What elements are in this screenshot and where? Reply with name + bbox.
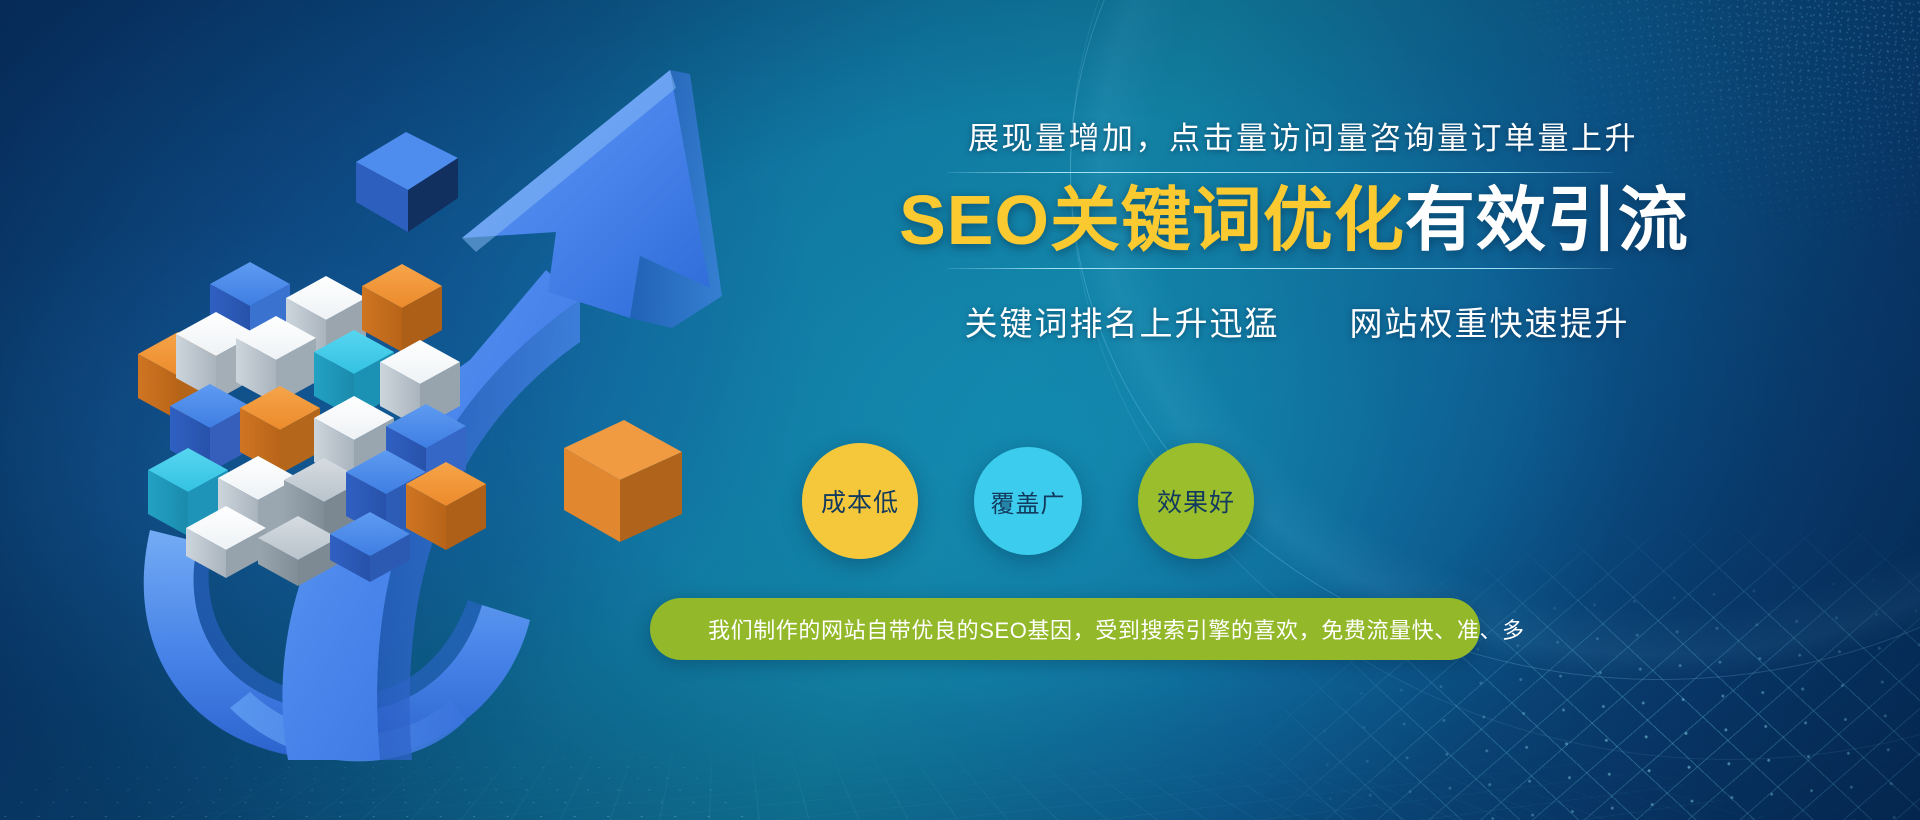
badge-label: 效果好 — [1157, 483, 1235, 519]
content-block: 展现量增加，点击量访问量咨询量订单量上升 SEO关键词优化有效引流 关键词排名上… — [690, 118, 1870, 758]
footer-note-bar: 我们制作的网站自带优良的SEO基因，受到搜索引擎的喜欢，免费流量快、准、多 — [650, 598, 1480, 660]
badge-wide-coverage[interactable]: 覆盖广 — [974, 447, 1082, 555]
subline-top: 展现量增加，点击量访问量咨询量订单量上升 — [690, 118, 1870, 160]
seo-promo-banner: 展现量增加，点击量访问量咨询量订单量上升 SEO关键词优化有效引流 关键词排名上… — [0, 0, 1920, 820]
divider-bottom — [947, 268, 1613, 269]
badge-low-cost[interactable]: 成本低 — [802, 443, 918, 559]
floating-orange-cube-graphic — [558, 418, 688, 548]
footer-note-text: 我们制作的网站自带优良的SEO基因，受到搜索引擎的喜欢，免费流量快、准、多 — [650, 613, 1525, 645]
page-title: SEO关键词优化有效引流 — [690, 181, 1870, 259]
subline-bottom: 关键词排名上升迅猛 网站权重快速提升 — [690, 297, 1870, 345]
badge-group: 成本低 覆盖广 效果好 — [802, 436, 1442, 566]
headline-rest: 有效引流 — [1405, 181, 1689, 259]
orange-cube-icon — [558, 418, 688, 548]
cube-cluster-graphic — [118, 240, 498, 600]
badge-label: 覆盖广 — [991, 484, 1066, 519]
divider-top — [947, 172, 1613, 173]
badge-label: 成本低 — [821, 483, 899, 519]
cube-cluster-icon — [118, 240, 498, 600]
floating-blue-cube-graphic — [352, 128, 462, 238]
headline-highlight: SEO关键词优化 — [899, 181, 1405, 259]
blue-cube-icon — [352, 128, 462, 238]
badge-good-result[interactable]: 效果好 — [1138, 443, 1254, 559]
